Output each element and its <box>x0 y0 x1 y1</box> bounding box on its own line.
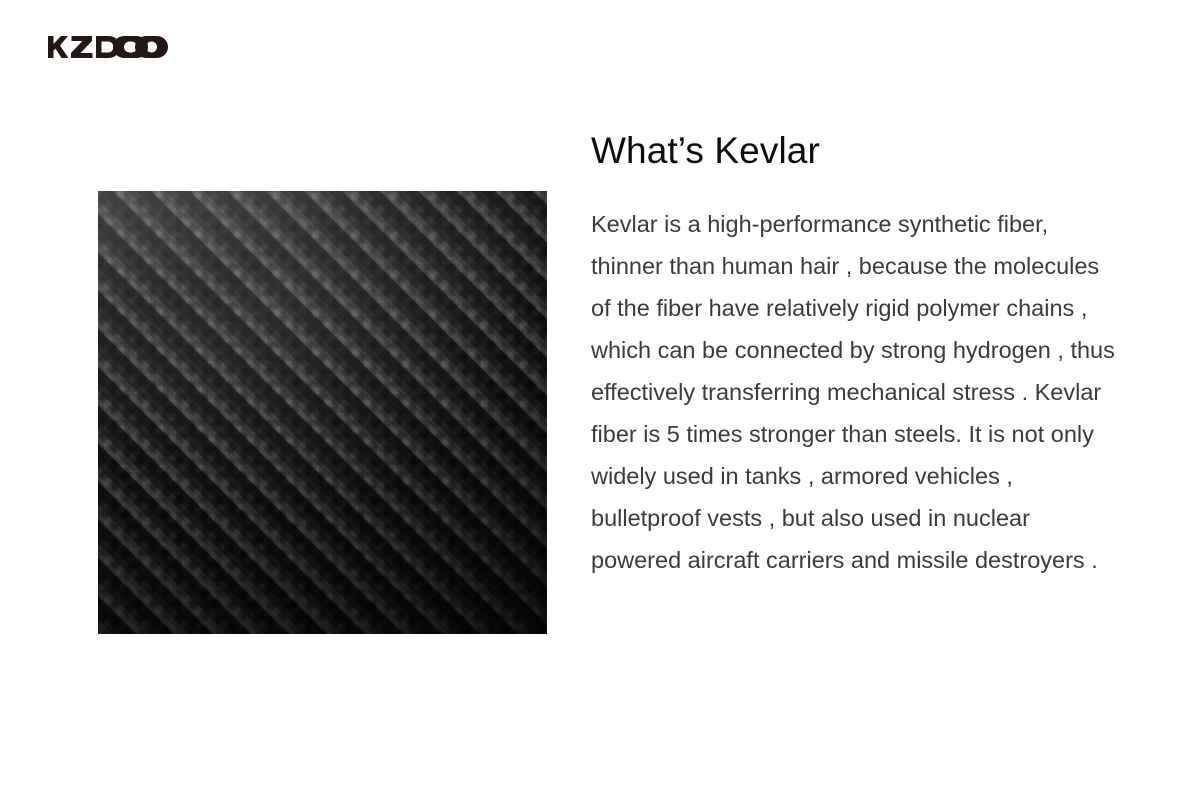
brand-logo: KZDOO <box>48 33 168 61</box>
slide-canvas: KZDOO What’s Kevlar Kevlar is a high-per… <box>0 0 1200 800</box>
description-paragraph: Kevlar is a high-performance synthetic f… <box>591 203 1123 581</box>
weave-lighting-layer <box>98 191 547 634</box>
kzdoo-wordmark-icon <box>48 36 168 58</box>
page-title: What’s Kevlar <box>591 130 820 173</box>
carbon-fiber-swatch-image <box>98 191 547 634</box>
